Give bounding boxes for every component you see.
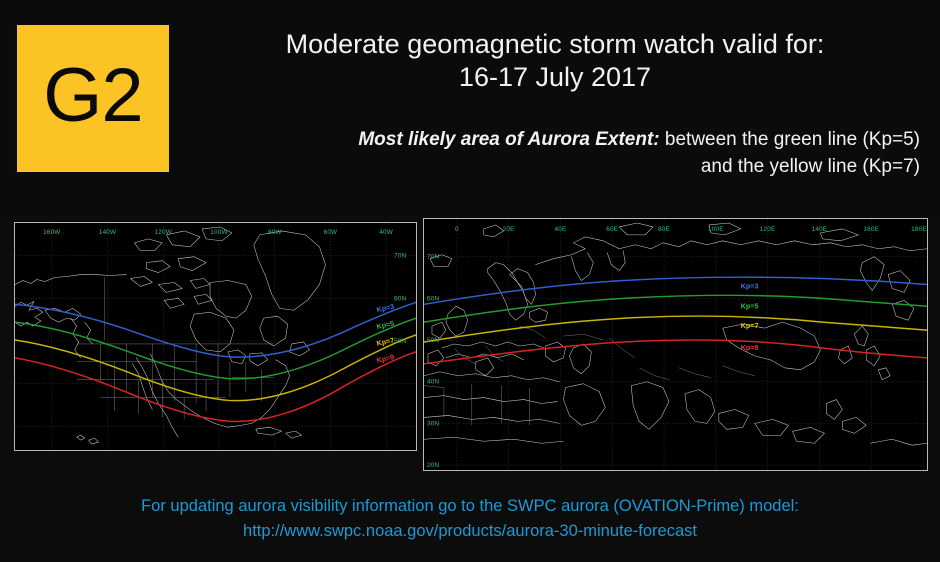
eurasia-map-svg: 0 20E 40E 60E 80E 100E 120E 140E 160E 18… xyxy=(424,219,927,470)
north-america-map-svg: 160W 140W 120W 100W 80W 60W 40W 70N 60N … xyxy=(15,223,416,450)
svg-text:Kp=5: Kp=5 xyxy=(741,302,759,310)
aurora-extent-label: Most likely area of Aurora Extent: xyxy=(358,129,659,150)
svg-text:0: 0 xyxy=(455,226,459,233)
svg-text:40N: 40N xyxy=(427,379,439,386)
footer-line-1: For updating aurora visibility informati… xyxy=(0,494,940,519)
header-band: G2 Moderate geomagnetic storm watch vali… xyxy=(0,0,940,215)
svg-text:70N: 70N xyxy=(394,253,406,260)
svg-text:70N: 70N xyxy=(427,254,439,261)
title-line-1: Moderate geomagnetic storm watch valid f… xyxy=(190,28,920,61)
svg-text:140W: 140W xyxy=(99,229,116,236)
footer-note: For updating aurora visibility informati… xyxy=(0,494,940,544)
svg-text:Kp=3: Kp=3 xyxy=(741,282,759,290)
eurasia-map-panel[interactable]: 0 20E 40E 60E 80E 100E 120E 140E 160E 18… xyxy=(423,218,928,471)
svg-text:20N: 20N xyxy=(427,462,439,469)
svg-text:40W: 40W xyxy=(379,229,393,236)
map-background xyxy=(15,223,416,450)
svg-text:50N: 50N xyxy=(394,338,406,345)
svg-text:Kp=7: Kp=7 xyxy=(741,322,759,330)
svg-text:120E: 120E xyxy=(760,226,776,233)
svg-text:120W: 120W xyxy=(155,229,172,236)
svg-text:160E: 160E xyxy=(863,226,879,233)
page-title: Moderate geomagnetic storm watch valid f… xyxy=(190,28,920,94)
svg-text:20E: 20E xyxy=(503,226,515,233)
svg-text:140E: 140E xyxy=(812,226,828,233)
svg-text:Kp=9: Kp=9 xyxy=(741,344,759,352)
aurora-extent-line-1: Most likely area of Aurora Extent: betwe… xyxy=(190,126,920,153)
svg-text:100E: 100E xyxy=(708,226,724,233)
svg-text:40E: 40E xyxy=(554,226,566,233)
svg-text:100W: 100W xyxy=(210,229,227,236)
svg-text:60N: 60N xyxy=(427,295,439,302)
aurora-extent-yellow-line: and the yellow line (Kp=7) xyxy=(190,153,920,180)
storm-scale-badge: G2 xyxy=(17,25,169,172)
svg-text:160W: 160W xyxy=(43,229,60,236)
svg-text:180E: 180E xyxy=(911,226,927,233)
svg-text:60N: 60N xyxy=(394,295,406,302)
svg-text:60E: 60E xyxy=(606,226,618,233)
aurora-extent-note: Most likely area of Aurora Extent: betwe… xyxy=(190,126,920,180)
aurora-extent-green-line: between the green line (Kp=5) xyxy=(665,129,920,150)
north-america-map-panel[interactable]: 160W 140W 120W 100W 80W 60W 40W 70N 60N … xyxy=(14,222,417,451)
svg-text:50N: 50N xyxy=(427,337,439,344)
title-line-2: 16-17 July 2017 xyxy=(190,61,920,94)
svg-text:80W: 80W xyxy=(268,229,282,236)
svg-text:60W: 60W xyxy=(324,229,338,236)
svg-text:30N: 30N xyxy=(427,420,439,427)
storm-scale-label: G2 xyxy=(43,58,142,140)
footer-url[interactable]: http://www.swpc.noaa.gov/products/aurora… xyxy=(0,519,940,544)
svg-text:80E: 80E xyxy=(658,226,670,233)
